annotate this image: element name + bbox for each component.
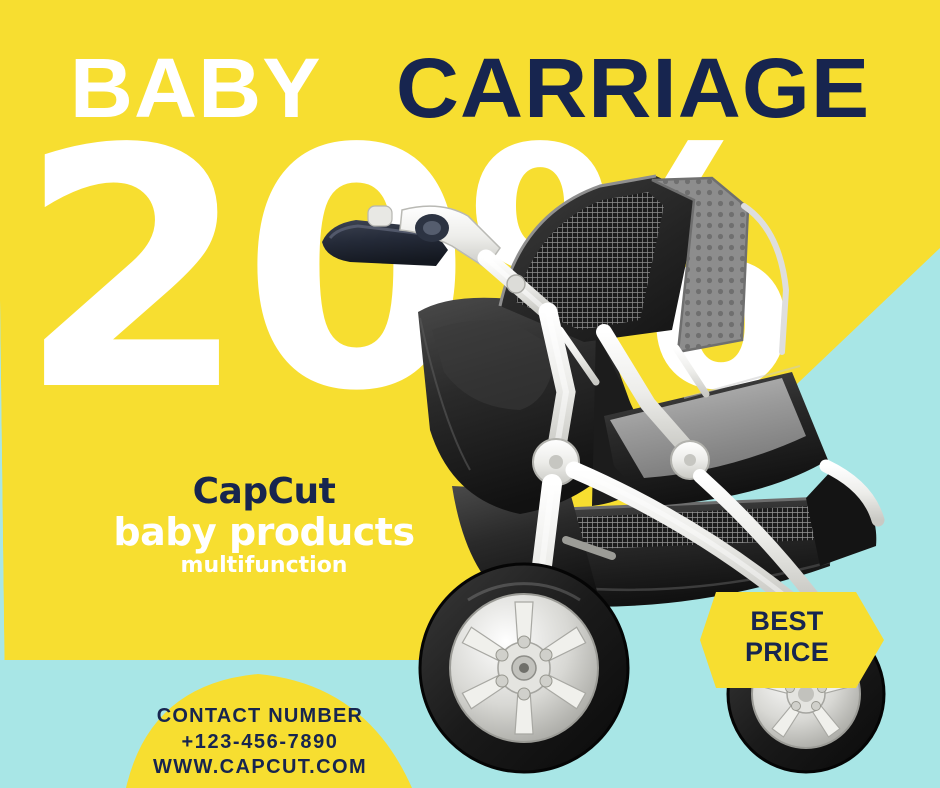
brand-tagline: multifunction xyxy=(74,555,454,577)
best-price-badge-text[interactable]: BEST PRICE xyxy=(712,606,862,669)
brand-block: CapCut baby products multifunction xyxy=(74,474,454,578)
brand-name: CapCut xyxy=(74,474,454,511)
discount-percentage: 20% xyxy=(18,120,918,424)
contact-phone[interactable]: +123-456-7890 xyxy=(80,730,440,756)
contact-website[interactable]: WWW.CAPCUT.COM xyxy=(80,755,440,781)
contact-block: CONTACT NUMBER +123-456-7890 WWW.CAPCUT.… xyxy=(80,704,440,781)
badge-line-best: BEST xyxy=(712,606,862,637)
promo-poster: BABY CARRIAGE 20% xyxy=(0,0,940,788)
contact-label: CONTACT NUMBER xyxy=(80,704,440,730)
badge-line-price: PRICE xyxy=(712,637,862,668)
brand-category: baby products xyxy=(74,513,454,552)
